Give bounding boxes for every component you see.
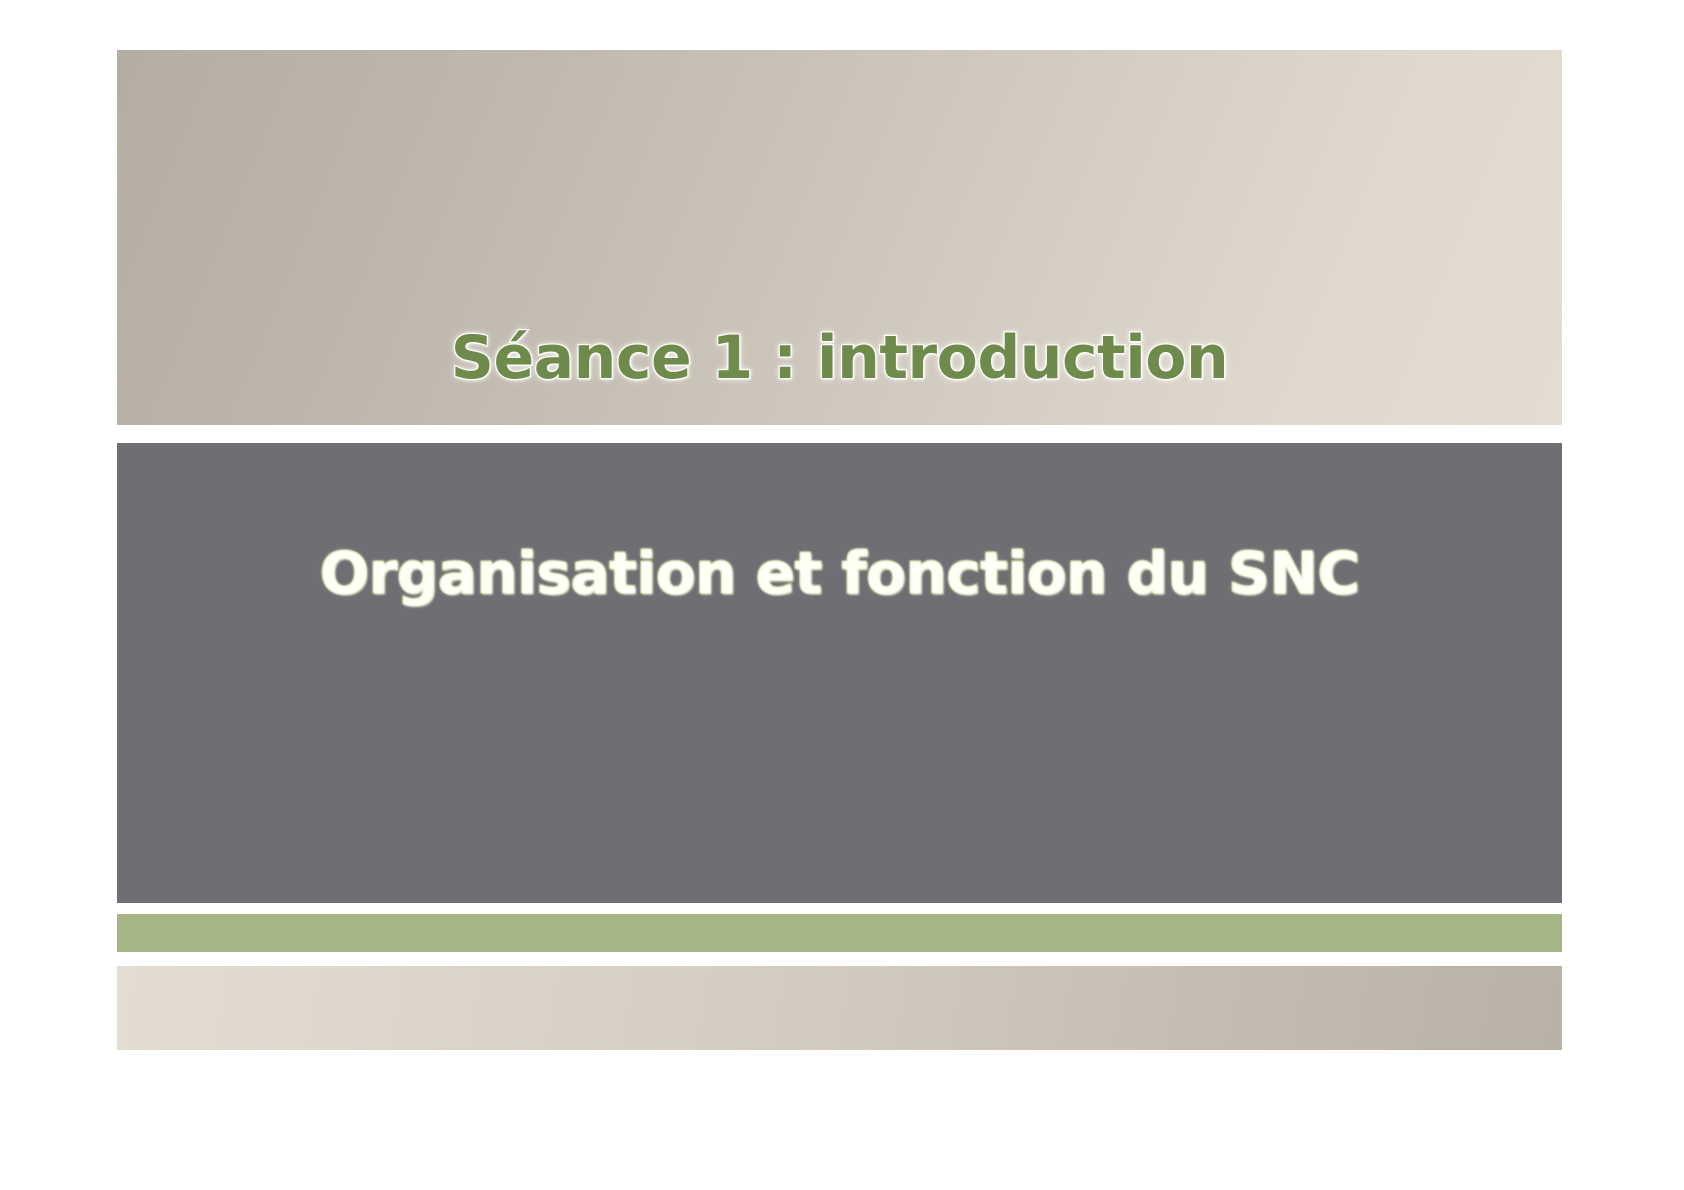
slide-title: Séance 1 : introduction xyxy=(117,323,1562,393)
subtitle-band: Organisation et fonction du SNC xyxy=(117,443,1562,903)
green-accent-strip xyxy=(117,914,1562,952)
slide-subtitle: Organisation et fonction du SNC xyxy=(117,539,1562,607)
footer-band xyxy=(117,966,1562,1050)
presentation-slide: Séance 1 : introduction Organisation et … xyxy=(0,0,1684,1190)
title-band: Séance 1 : introduction xyxy=(117,50,1562,425)
